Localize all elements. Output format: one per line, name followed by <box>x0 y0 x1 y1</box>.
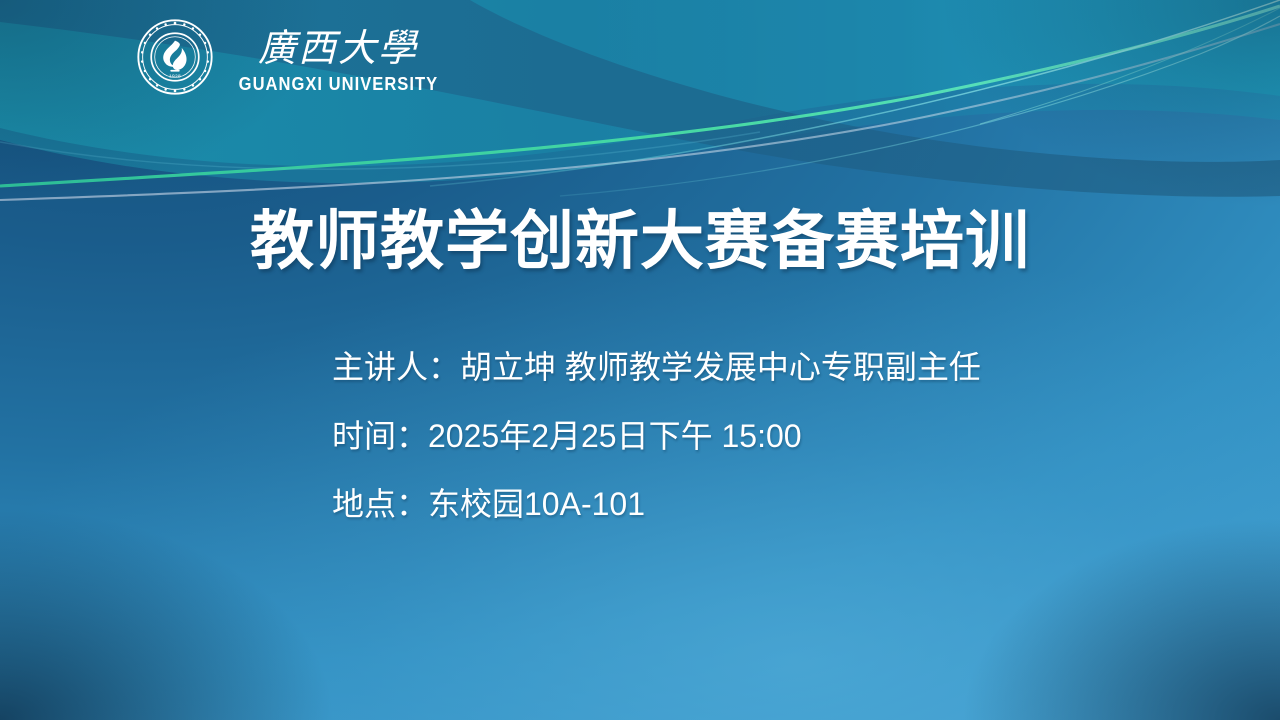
detail-time: 时间：2025年2月25日下午 15:00 <box>332 419 981 454</box>
logo-wordmark: 廣西大學 GUANGXI UNIVERSITY <box>230 21 447 93</box>
guangxi-university-seal-icon: 1928 <box>136 18 214 96</box>
detail-location: 地点：东校园10A-101 <box>332 487 981 522</box>
detail-speaker: 主讲人：胡立坤 教师教学发展中心专职副主任 <box>332 350 981 385</box>
seal-year: 1928 <box>169 74 181 80</box>
logo-name-en: GUANGXI UNIVERSITY <box>239 75 438 93</box>
slide-title: 教师教学创新大赛备赛培训 <box>0 205 1280 279</box>
logo-name-cn: 廣西大學 <box>246 23 430 73</box>
logo-name-cn-text: 廣西大學 <box>258 26 419 70</box>
slide-details: 主讲人：胡立坤 教师教学发展中心专职副主任 时间：2025年2月25日下午 15… <box>332 350 981 522</box>
presentation-slide: 1928 廣西大學 GUANGXI UNIVERSITY 教师教学创新大赛备赛培… <box>0 0 1280 720</box>
university-logo-lockup: 1928 廣西大學 GUANGXI UNIVERSITY <box>136 18 447 96</box>
